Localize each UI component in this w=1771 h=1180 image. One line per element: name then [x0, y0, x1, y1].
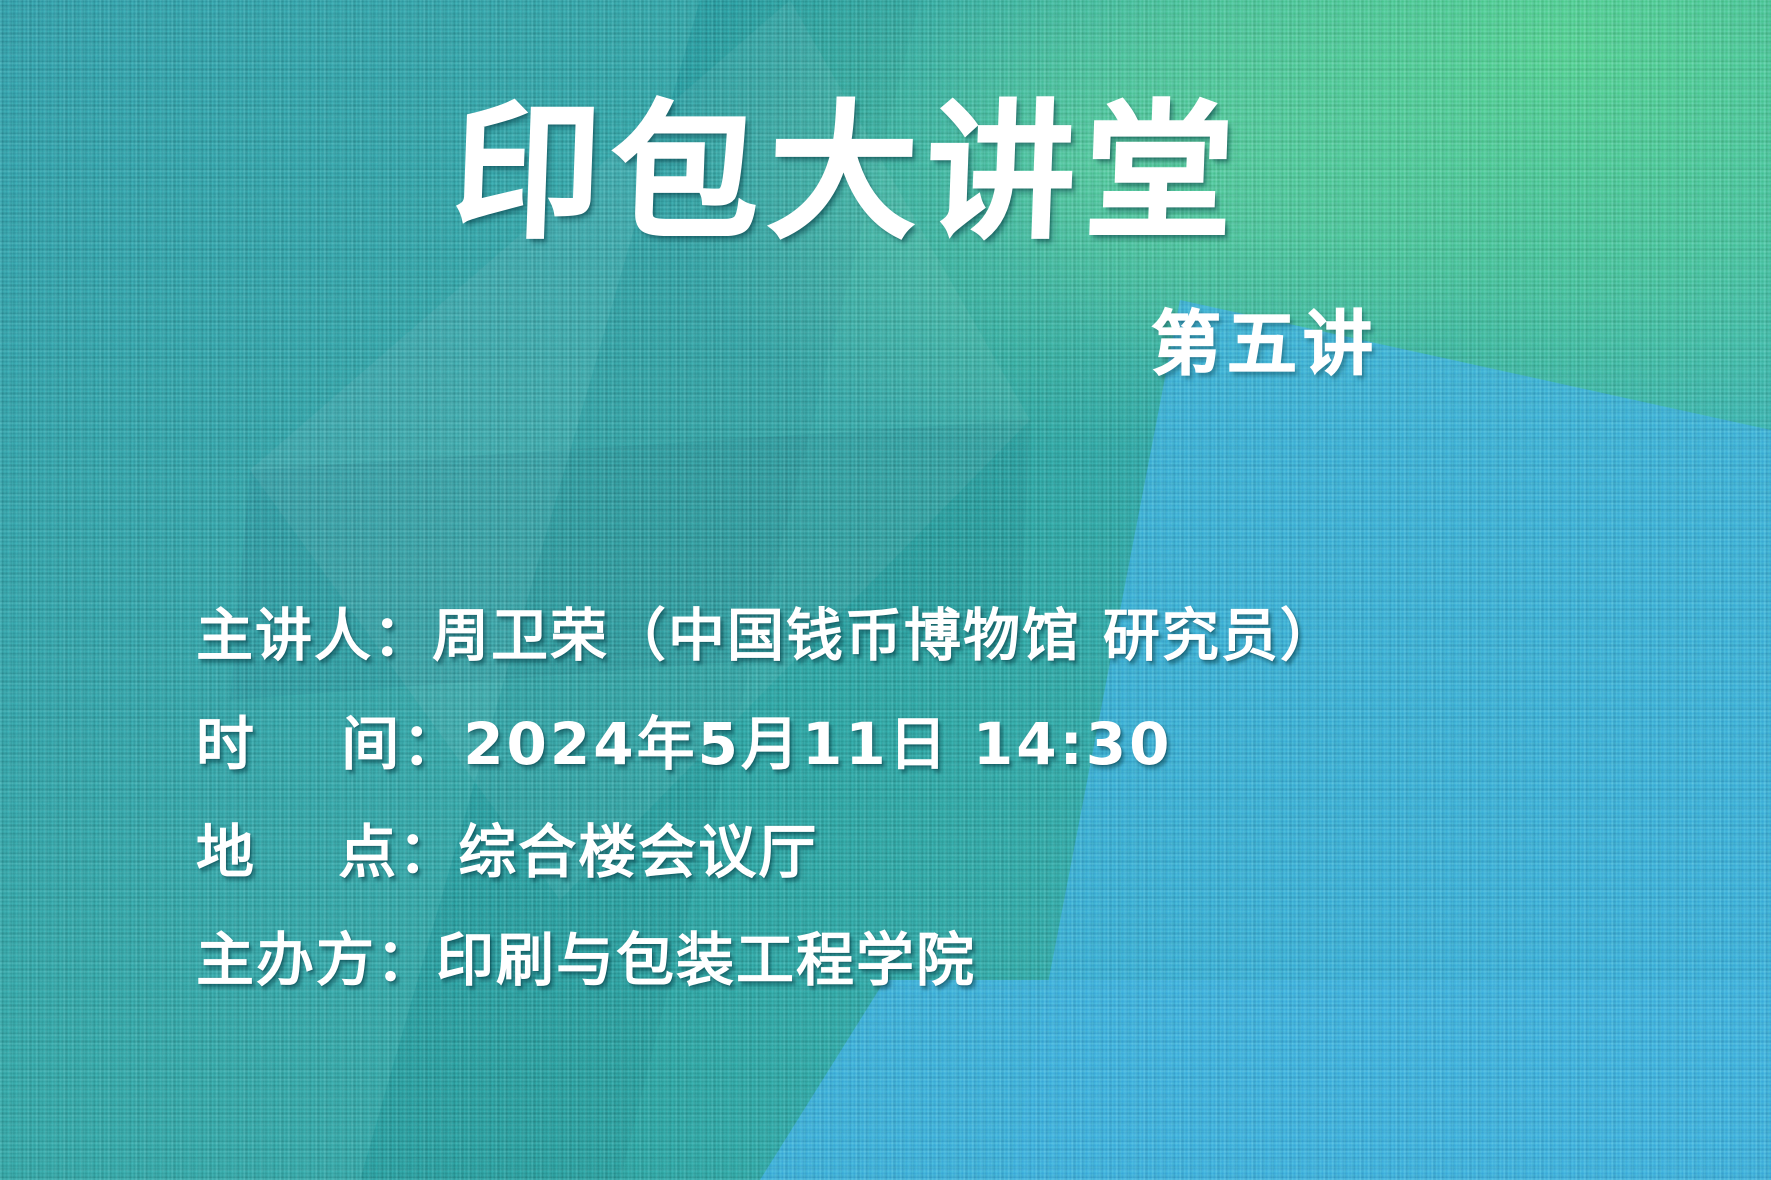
detail-speaker: 主讲人：周卫荣（中国钱币博物馆 研究员）	[196, 608, 1339, 665]
poster-title: 印包大讲堂	[450, 98, 1245, 246]
detail-host: 主办方：印刷与包装工程学院	[196, 931, 1339, 989]
poster-subtitle: 第五讲	[1151, 302, 1379, 385]
poster-canvas: 印包大讲堂 第五讲 主讲人：周卫荣（中国钱币博物馆 研究员） 时 间：2024年…	[0, 0, 1771, 1180]
detail-place: 地 点：综合楼会议厅	[196, 823, 1339, 881]
subtitle-container: 第五讲	[1151, 288, 1379, 389]
detail-time: 时 间：2024年5月11日 14:30	[196, 715, 1339, 773]
title-container: 印包大讲堂	[0, 98, 1771, 246]
event-details: 主讲人：周卫荣（中国钱币博物馆 研究员） 时 间：2024年5月11日 14:3…	[196, 608, 1339, 989]
